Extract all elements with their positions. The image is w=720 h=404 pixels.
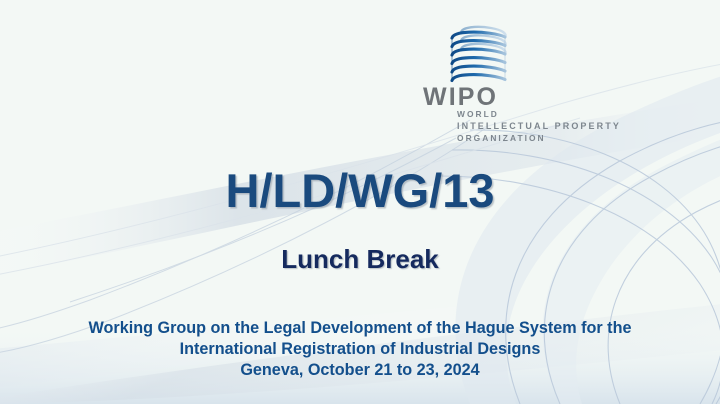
footer-line-2: International Registration of Industrial… bbox=[0, 339, 720, 360]
wipo-wordmark: WIPO bbox=[423, 85, 498, 110]
presentation-slide: WIPO WORLD INTELLECTUAL PROPERTY ORGANIZ… bbox=[0, 0, 720, 404]
wipo-tagline-line-2: INTELLECTUAL PROPERTY bbox=[457, 122, 621, 131]
wipo-tagline-line-1: WORLD bbox=[457, 110, 499, 118]
footer-line-1: Working Group on the Legal Development o… bbox=[0, 318, 720, 339]
wipo-tagline-line-3: ORGANIZATION bbox=[457, 134, 546, 142]
footer-line-3: Geneva, October 21 to 23, 2024 bbox=[0, 360, 720, 381]
slide-title: H/LD/WG/13 bbox=[0, 167, 720, 214]
slide-footer: Working Group on the Legal Development o… bbox=[0, 318, 720, 381]
wipo-logo: WIPO WORLD INTELLECTUAL PROPERTY ORGANIZ… bbox=[419, 25, 644, 140]
wipo-spiral-mark-icon bbox=[447, 25, 513, 87]
slide-subtitle: Lunch Break bbox=[0, 246, 720, 272]
